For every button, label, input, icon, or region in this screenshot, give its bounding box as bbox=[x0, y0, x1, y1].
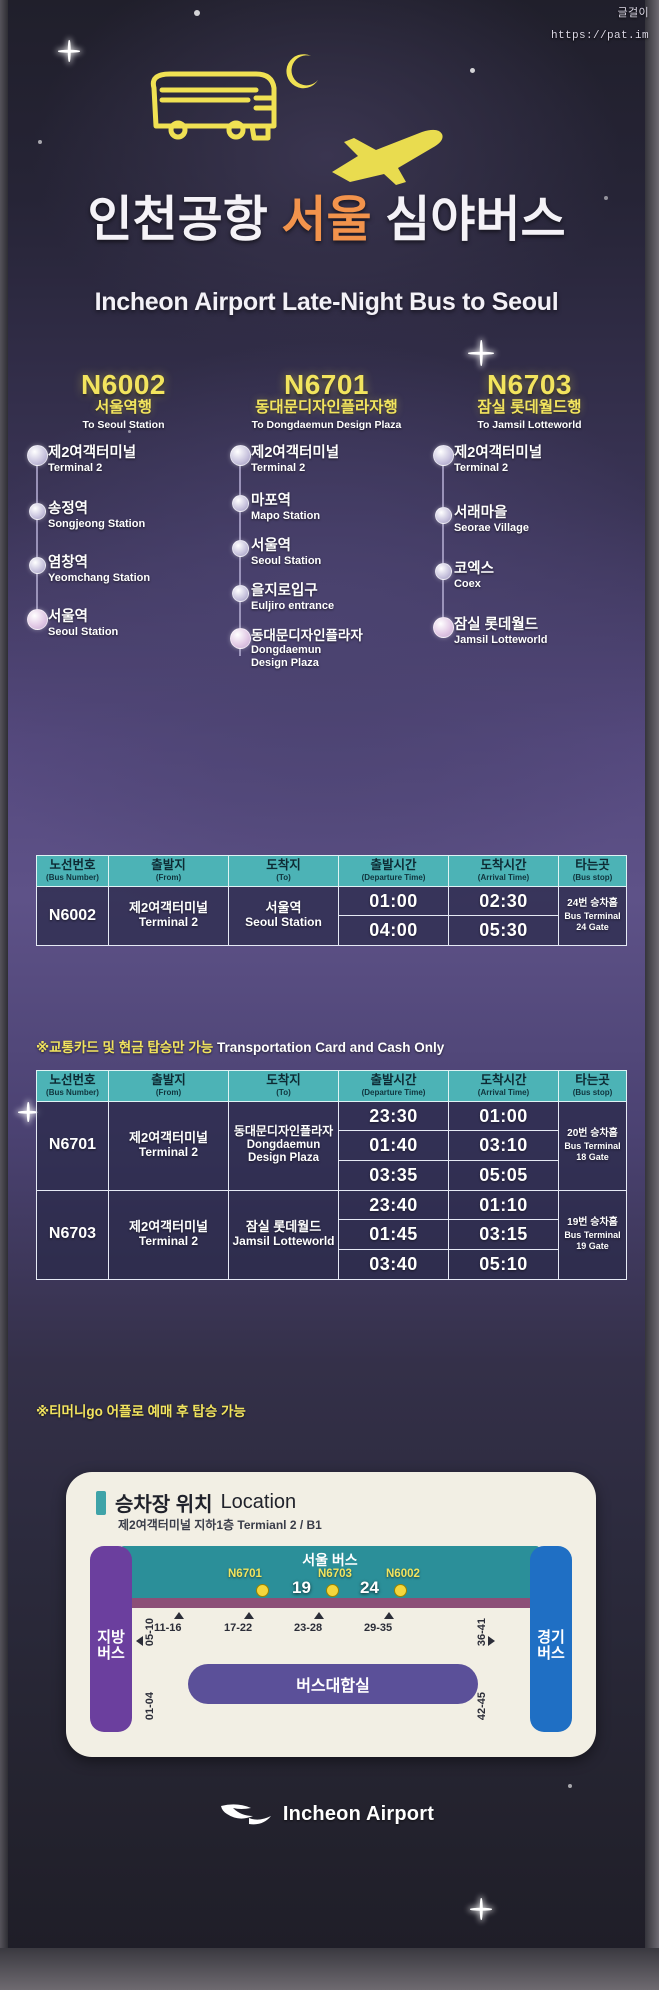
stop-name-en: Seoul Station bbox=[48, 626, 225, 638]
gate-range-label: 42-45 bbox=[476, 1692, 488, 1720]
map-stop-dot-n6703 bbox=[326, 1584, 339, 1597]
stop-name-ko: 동대문디자인플라자 bbox=[251, 628, 428, 643]
airplane-icon bbox=[326, 128, 476, 188]
map-route-label-n6002: N6002 bbox=[386, 1568, 420, 1580]
list-item: 염창역 Yeomchang Station bbox=[48, 555, 225, 589]
title-accent: 서울 bbox=[281, 193, 371, 247]
stop-name-ko: 서래마을 bbox=[454, 505, 631, 521]
map-stop-dot-n6701 bbox=[256, 1584, 269, 1597]
stop-name-ko: 서울역 bbox=[251, 538, 428, 554]
route-number: N6701 bbox=[225, 370, 428, 399]
schedule-table-n6002: 노선번호(Bus Number) 출발지(From) 도착지(To) 출발시간(… bbox=[36, 855, 627, 946]
list-item: 동대문디자인플라자 Dongdaemun Design Plaza bbox=[251, 628, 428, 670]
stop-name-ko: 코엑스 bbox=[454, 561, 631, 577]
watermark-line2: https://pat.im bbox=[551, 30, 649, 42]
col-departure: 출발시간(Departure Time) bbox=[339, 1071, 449, 1102]
cell-bus-number: N6701 bbox=[37, 1101, 109, 1190]
watermark-line1: 글걸이 bbox=[617, 4, 649, 20]
cell-bus-stop: 20번 승차홈Bus Terminal 18 Gate bbox=[559, 1101, 627, 1190]
stop-name-ko: 서울역 bbox=[48, 609, 225, 625]
cell-arrival-time: 01:00 bbox=[449, 1101, 559, 1131]
stop-name-en: Yeomchang Station bbox=[48, 572, 225, 584]
cell-arrival-time: 03:15 bbox=[449, 1220, 559, 1250]
stop-marker-icon bbox=[232, 585, 249, 602]
route-line bbox=[36, 453, 38, 629]
bus-waiting-hall: 버스대합실 bbox=[188, 1664, 478, 1704]
gyeonggi-bus-label: 경기버스 bbox=[530, 1630, 572, 1662]
bus-info-banner: 인천공항 서울 심야버스 Incheon Airport Late-Night … bbox=[8, 0, 645, 1950]
col-from: 출발지(From) bbox=[109, 1071, 229, 1102]
route-stop-list: 제2여객터미널 Terminal 2 마포역 Mapo Station 서울역 … bbox=[225, 445, 428, 670]
gate-range-label: 36-41 bbox=[476, 1618, 488, 1646]
gate-range-label: 01-04 bbox=[144, 1692, 156, 1720]
list-item: 제2여객터미널 Terminal 2 bbox=[48, 445, 225, 479]
cell-to: 서울역Seoul Station bbox=[229, 886, 339, 945]
list-item: 코엑스 Coex bbox=[454, 561, 631, 595]
bus-icon bbox=[136, 68, 296, 158]
stop-name-en: Mapo Station bbox=[251, 510, 428, 522]
footer-brand-label: Incheon Airport bbox=[283, 1803, 434, 1826]
gate-pointer-icon bbox=[384, 1612, 394, 1619]
location-title-ko: 승차장 위치 bbox=[115, 1488, 213, 1517]
gate-pointer-icon bbox=[174, 1612, 184, 1619]
route-destination-ko: 잠실 롯데월드행 bbox=[428, 399, 631, 418]
location-card: 승차장 위치 Location 제2여객터미널 지하1층 Termianl 2 … bbox=[66, 1472, 596, 1757]
map-stop-dot-n6002 bbox=[394, 1584, 407, 1597]
cell-arrival-time: 03:10 bbox=[449, 1131, 559, 1161]
cell-departure-time: 01:40 bbox=[339, 1131, 449, 1161]
stop-name-ko: 잠실 롯데월드 bbox=[454, 617, 631, 633]
cell-bus-stop: 24번 승차홈Bus Terminal 24 Gate bbox=[559, 886, 627, 945]
list-item: 을지로입구 Euljiro entrance bbox=[251, 583, 428, 617]
cell-to: 동대문디자인플라자Dongdaemun Design Plaza bbox=[229, 1101, 339, 1190]
list-item: 마포역 Mapo Station bbox=[251, 493, 428, 527]
list-item: 송정역 Songjeong Station bbox=[48, 501, 225, 535]
stop-marker-icon bbox=[27, 445, 48, 466]
platform-band bbox=[110, 1598, 550, 1608]
stop-marker-icon bbox=[27, 609, 48, 630]
stop-name-en: Terminal 2 bbox=[251, 462, 428, 474]
location-title-en: Location bbox=[221, 1491, 297, 1514]
list-item: 서울역 Seoul Station bbox=[251, 538, 428, 572]
cell-departure-time: 03:40 bbox=[339, 1249, 449, 1279]
list-item: 제2여객터미널 Terminal 2 bbox=[251, 445, 428, 479]
header-artwork bbox=[8, 60, 645, 190]
route-destination-ko: 동대문디자인플라자행 bbox=[225, 399, 428, 418]
cell-from: 제2여객터미널Terminal 2 bbox=[109, 1190, 229, 1279]
poster-photo: 인천공항 서울 심야버스 Incheon Airport Late-Night … bbox=[0, 0, 659, 1990]
cell-departure-time: 03:35 bbox=[339, 1160, 449, 1190]
col-bus-number: 노선번호(Bus Number) bbox=[37, 1071, 109, 1102]
page-title-ko: 인천공항 서울 심야버스 bbox=[8, 196, 645, 245]
cell-departure-time: 23:40 bbox=[339, 1190, 449, 1220]
cell-arrival-time: 05:10 bbox=[449, 1249, 559, 1279]
cell-departure-time: 01:45 bbox=[339, 1220, 449, 1250]
list-item: 서울역 Seoul Station bbox=[48, 609, 225, 643]
col-bus-stop: 타는곳(Bus stop) bbox=[559, 1071, 627, 1102]
stop-marker-icon bbox=[232, 495, 249, 512]
route-destination-ko: 서울역행 bbox=[22, 399, 225, 418]
col-from: 출발지(From) bbox=[109, 856, 229, 887]
floor-strip bbox=[0, 1948, 659, 1990]
cell-departure-time: 01:00 bbox=[339, 886, 449, 916]
route-column-n6701: N6701 동대문디자인플라자행 To Dongdaemun Design Pl… bbox=[225, 370, 428, 681]
route-destination-en: To Seoul Station bbox=[22, 419, 225, 431]
gate-pointer-icon bbox=[136, 1636, 143, 1646]
cell-departure-time: 04:00 bbox=[339, 916, 449, 946]
stop-marker-icon bbox=[230, 628, 251, 649]
stop-name-en: Seoul Station bbox=[251, 555, 428, 567]
route-line bbox=[442, 453, 444, 637]
page-title-en: Incheon Airport Late-Night Bus to Seoul bbox=[8, 288, 645, 317]
col-departure: 출발시간(Departure Time) bbox=[339, 856, 449, 887]
gate-range-label: 23-28 bbox=[294, 1622, 322, 1634]
stop-marker-icon bbox=[230, 445, 251, 466]
route-column-n6703: N6703 잠실 롯데월드행 To Jamsil Lotteworld 제2여객… bbox=[428, 370, 631, 681]
note-payment-en: Transportation Card and Cash Only bbox=[217, 1040, 444, 1055]
col-to: 도착지(To) bbox=[229, 856, 339, 887]
stop-marker-icon bbox=[435, 563, 452, 580]
col-bus-stop: 타는곳(Bus stop) bbox=[559, 856, 627, 887]
table-row: N6701 제2여객터미널Terminal 2 동대문디자인플라자Dongdae… bbox=[37, 1101, 627, 1131]
stop-name-en: Coex bbox=[454, 578, 631, 590]
gate-range-label: 29-35 bbox=[364, 1622, 392, 1634]
seoul-bus-label: 서울 버스 bbox=[120, 1550, 540, 1570]
route-column-n6002: N6002 서울역행 To Seoul Station 제2여객터미널 Term… bbox=[22, 370, 225, 681]
gate-pointer-icon bbox=[314, 1612, 324, 1619]
stop-name-en: Dongdaemun bbox=[251, 644, 428, 656]
note-payment-ko: ※교통카드 및 현금 탑승만 가능 bbox=[36, 1040, 213, 1055]
sparkle-icon bbox=[470, 1898, 492, 1920]
gate-range-label: 05-10 bbox=[144, 1618, 156, 1646]
location-heading: 승차장 위치 Location bbox=[96, 1488, 296, 1517]
sparkle-icon bbox=[468, 340, 494, 366]
sparkle-icon bbox=[58, 40, 80, 62]
map-route-label-n6703: N6703 bbox=[318, 1568, 352, 1580]
stop-name-ko: 송정역 bbox=[48, 501, 225, 517]
gate-pointer-icon bbox=[244, 1612, 254, 1619]
incheon-airport-logo-icon bbox=[219, 1800, 273, 1828]
route-columns: N6002 서울역행 To Seoul Station 제2여객터미널 Term… bbox=[22, 370, 631, 681]
stop-name-en: Seorae Village bbox=[454, 522, 631, 534]
route-number: N6002 bbox=[22, 370, 225, 399]
cell-bus-number: N6002 bbox=[37, 886, 109, 945]
cell-arrival-time: 01:10 bbox=[449, 1190, 559, 1220]
list-item: 서래마을 Seorae Village bbox=[454, 505, 631, 539]
title-part1: 인천공항 bbox=[87, 193, 267, 247]
stop-name-ko: 제2여객터미널 bbox=[48, 445, 225, 461]
schedule-table-n6701-n6703: 노선번호(Bus Number) 출발지(From) 도착지(To) 출발시간(… bbox=[36, 1070, 627, 1280]
footer-brand: Incheon Airport bbox=[8, 1800, 645, 1828]
map-gate-number-19: 19 bbox=[292, 1578, 311, 1598]
wall-right bbox=[645, 0, 659, 1990]
star-dot-icon bbox=[194, 10, 200, 16]
col-arrival: 도착시간(Arrival Time) bbox=[449, 1071, 559, 1102]
stop-name-ko: 제2여객터미널 bbox=[251, 445, 428, 461]
stop-name-ko: 마포역 bbox=[251, 493, 428, 509]
cell-arrival-time: 05:05 bbox=[449, 1160, 559, 1190]
accent-bar-icon bbox=[96, 1491, 106, 1515]
stop-name-ko: 염창역 bbox=[48, 555, 225, 571]
terminal-map: 서울 버스 지방버스 경기버스 N6701 19 N6703 bbox=[88, 1540, 574, 1738]
stop-marker-icon bbox=[232, 540, 249, 557]
col-arrival: 도착시간(Arrival Time) bbox=[449, 856, 559, 887]
stop-name-en: Euljiro entrance bbox=[251, 600, 428, 612]
cell-departure-time: 23:30 bbox=[339, 1101, 449, 1131]
route-number: N6703 bbox=[428, 370, 631, 399]
stop-marker-icon bbox=[29, 503, 46, 520]
list-item: 제2여객터미널 Terminal 2 bbox=[454, 445, 631, 479]
stop-marker-icon bbox=[433, 445, 454, 466]
stop-marker-icon bbox=[29, 557, 46, 574]
cell-arrival-time: 02:30 bbox=[449, 886, 559, 916]
map-gate-number-24: 24 bbox=[360, 1578, 379, 1598]
stop-name-en: Jamsil Lotteworld bbox=[454, 634, 631, 646]
cell-bus-number: N6703 bbox=[37, 1190, 109, 1279]
stop-name-en: Terminal 2 bbox=[48, 462, 225, 474]
intercity-bus-zone: 지방버스 bbox=[90, 1546, 132, 1732]
gyeonggi-bus-zone: 경기버스 bbox=[530, 1546, 572, 1732]
stop-marker-icon bbox=[433, 617, 454, 638]
cell-to: 잠실 롯데월드Jamsil Lotteworld bbox=[229, 1190, 339, 1279]
note-ticketing: ※티머니go 어플로 예매 후 탑승 가능 bbox=[36, 1400, 246, 1420]
table-header-row: 노선번호(Bus Number) 출발지(From) 도착지(To) 출발시간(… bbox=[37, 1071, 627, 1102]
map-route-label-n6701: N6701 bbox=[228, 1568, 262, 1580]
table-row: N6703 제2여객터미널Terminal 2 잠실 롯데월드Jamsil Lo… bbox=[37, 1190, 627, 1220]
list-item: 잠실 롯데월드 Jamsil Lotteworld bbox=[454, 617, 631, 651]
location-subtitle: 제2여객터미널 지하1층 Termianl 2 / B1 bbox=[118, 1516, 322, 1533]
star-dot-icon bbox=[568, 1784, 572, 1788]
route-stop-list: 제2여객터미널 Terminal 2 송정역 Songjeong Station… bbox=[22, 445, 225, 643]
stop-name-ko: 제2여객터미널 bbox=[454, 445, 631, 461]
stop-name-en: Terminal 2 bbox=[454, 462, 631, 474]
stop-name-ko: 을지로입구 bbox=[251, 583, 428, 599]
note-payment: ※교통카드 및 현금 탑승만 가능 Transportation Card an… bbox=[36, 1036, 444, 1056]
route-stop-list: 제2여객터미널 Terminal 2 서래마을 Seorae Village 코… bbox=[428, 445, 631, 651]
col-to: 도착지(To) bbox=[229, 1071, 339, 1102]
wall-left bbox=[0, 0, 8, 1990]
gate-range-label: 17-22 bbox=[224, 1622, 252, 1634]
gate-range-label: 11-16 bbox=[154, 1622, 182, 1634]
stop-name-en2: Design Plaza bbox=[251, 657, 428, 669]
col-bus-number: 노선번호(Bus Number) bbox=[37, 856, 109, 887]
cell-arrival-time: 05:30 bbox=[449, 916, 559, 946]
table-row: N6002 제2여객터미널Terminal 2 서울역Seoul Station… bbox=[37, 886, 627, 916]
cell-from: 제2여객터미널Terminal 2 bbox=[109, 886, 229, 945]
route-destination-en: To Dongdaemun Design Plaza bbox=[225, 419, 428, 431]
sparkle-icon bbox=[18, 1102, 38, 1122]
gate-pointer-icon bbox=[488, 1636, 495, 1646]
title-part2: 심야버스 bbox=[385, 193, 565, 247]
cell-from: 제2여객터미널Terminal 2 bbox=[109, 1101, 229, 1190]
route-destination-en: To Jamsil Lotteworld bbox=[428, 419, 631, 431]
table-header-row: 노선번호(Bus Number) 출발지(From) 도착지(To) 출발시간(… bbox=[37, 856, 627, 887]
cell-bus-stop: 19번 승차홈Bus Terminal 19 Gate bbox=[559, 1190, 627, 1279]
intercity-bus-label: 지방버스 bbox=[90, 1630, 132, 1662]
stop-marker-icon bbox=[435, 507, 452, 524]
stop-name-en: Songjeong Station bbox=[48, 518, 225, 530]
